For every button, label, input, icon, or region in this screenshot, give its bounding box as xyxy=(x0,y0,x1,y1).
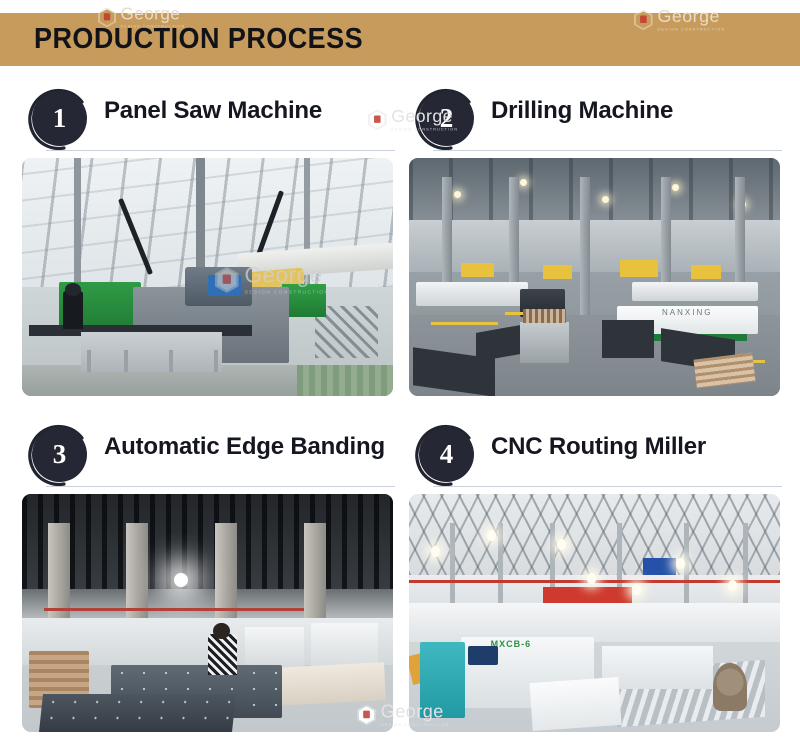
step-title: Panel Saw Machine xyxy=(104,97,395,125)
step-number-badge: 1 xyxy=(24,86,94,156)
process-steps-grid: 1 Panel Saw Machine xyxy=(18,84,782,732)
step-photo-cnc-routing: MXCB-6 xyxy=(409,494,780,732)
step-number-badge: 4 xyxy=(411,422,481,492)
step-title: Automatic Edge Banding xyxy=(104,433,395,461)
title-divider xyxy=(46,150,395,151)
process-step-2: 2 Drilling Machine xyxy=(405,84,782,396)
step-number: 1 xyxy=(32,91,87,146)
step-number: 2 xyxy=(419,91,474,146)
step-number-badge: 2 xyxy=(411,86,481,156)
step-number: 4 xyxy=(419,427,474,482)
process-step-4: 4 CNC Routing Miller xyxy=(405,420,782,732)
step-title: CNC Routing Miller xyxy=(491,433,782,461)
step-number-badge: 3 xyxy=(24,422,94,492)
production-process-page: PRODUCTION PROCESS George DESIGN CONSTRU… xyxy=(0,0,800,749)
process-step-3: 3 Automatic Edge Banding xyxy=(18,420,395,732)
title-divider xyxy=(433,150,782,151)
step-header: 3 Automatic Edge Banding xyxy=(18,420,395,494)
title-divider xyxy=(433,486,782,487)
step-header: 1 Panel Saw Machine xyxy=(18,84,395,158)
step-photo-edge-banding xyxy=(22,494,393,732)
step-number: 3 xyxy=(32,427,87,482)
header-bar: PRODUCTION PROCESS xyxy=(0,13,800,66)
process-step-1: 1 Panel Saw Machine xyxy=(18,84,395,396)
step-photo-panel-saw xyxy=(22,158,393,396)
step-header: 4 CNC Routing Miller xyxy=(405,420,782,494)
step-title: Drilling Machine xyxy=(491,97,782,125)
page-title: PRODUCTION PROCESS xyxy=(34,23,363,56)
title-divider xyxy=(46,486,395,487)
step-header: 2 Drilling Machine xyxy=(405,84,782,158)
step-photo-drilling: NANXING xyxy=(409,158,780,396)
